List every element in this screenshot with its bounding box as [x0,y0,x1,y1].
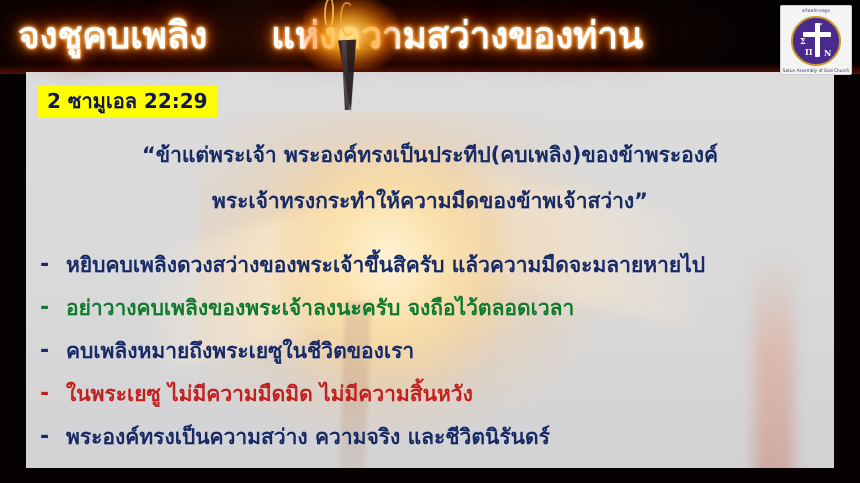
bullet-text: อย่าวางคบเพลิงของพระเจ้าลงนะครับ จงถือไว… [66,289,574,327]
bullet-dash: - [40,289,66,327]
bullet-text: คบเพลิงหมายถึงพระเยซูในชีวิตของเรา [66,332,414,370]
header-title-part1: จงชูคบเพลิง [18,14,207,57]
cross-icon-vertical [815,23,820,57]
scripture-line-1: “ข้าแต่พระเจ้า พระองค์ทรงเป็นประทีป(คบเพ… [26,132,834,178]
bullet-dash: - [40,418,66,456]
logo-greek-letter-2: Π [805,47,813,57]
list-item: - หยิบคบเพลิงดวงสว่างของพระเจ้าขึ้นสิครั… [40,246,820,289]
logo-greek-letter-1: Σ [800,36,806,46]
bullet-text: หยิบคบเพลิงดวงสว่างของพระเจ้าขึ้นสิครับ … [66,246,705,284]
logo-english-name: Satun Assembly of God Church [783,68,849,73]
list-item: - คบเพลิงหมายถึงพระเยซูในชีวิตของเรา [40,332,820,375]
bullet-text: พระองค์ทรงเป็นความสว่าง ความจริง และชีวิ… [66,418,550,456]
bullet-list: - หยิบคบเพลิงดวงสว่างของพระเจ้าขึ้นสิครั… [40,246,820,461]
presentation-slide: จงชูคบเพลิงแห่งความสว่างของท่าน คริสตจัก… [0,0,860,483]
content-panel: 2 ซามูเอล 22:29 “ข้าแต่พระเจ้า พระองค์ทร… [26,72,834,468]
list-item: - พระองค์ทรงเป็นความสว่าง ความจริง และชี… [40,418,820,461]
cross-icon-horizontal [803,32,831,37]
scripture-line-2: พระเจ้าทรงกระทำให้ความมืดของข้าพเจ้าสว่า… [26,178,834,224]
bullet-dash: - [40,375,66,413]
scripture-text: “ข้าแต่พระเจ้า พระองค์ทรงเป็นประทีป(คบเพ… [26,132,834,224]
logo-greek-letter-3: Ν [824,48,831,58]
bullet-dash: - [40,332,66,370]
flame-curl-icon-left [324,0,334,28]
logo-thai-name: คริสตจักรสตูล [802,9,830,15]
church-logo: คริสตจักรสตูล Σ Π Ν Satun Assembly of Go… [780,5,852,75]
logo-emblem-icon: Σ Π Ν [791,16,841,66]
list-item: - ในพระเยซู ไม่มีความมืดมิด ไม่มีความสิ้… [40,375,820,418]
scripture-reference: 2 ซามูเอล 22:29 [38,86,217,117]
bullet-text: ในพระเยซู ไม่มีความมืดมิด ไม่มีความสิ้นห… [66,375,473,413]
bullet-dash: - [40,246,66,284]
list-item: - อย่าวางคบเพลิงของพระเจ้าลงนะครับ จงถือ… [40,289,820,332]
flame-curl-icon-right [340,2,354,36]
